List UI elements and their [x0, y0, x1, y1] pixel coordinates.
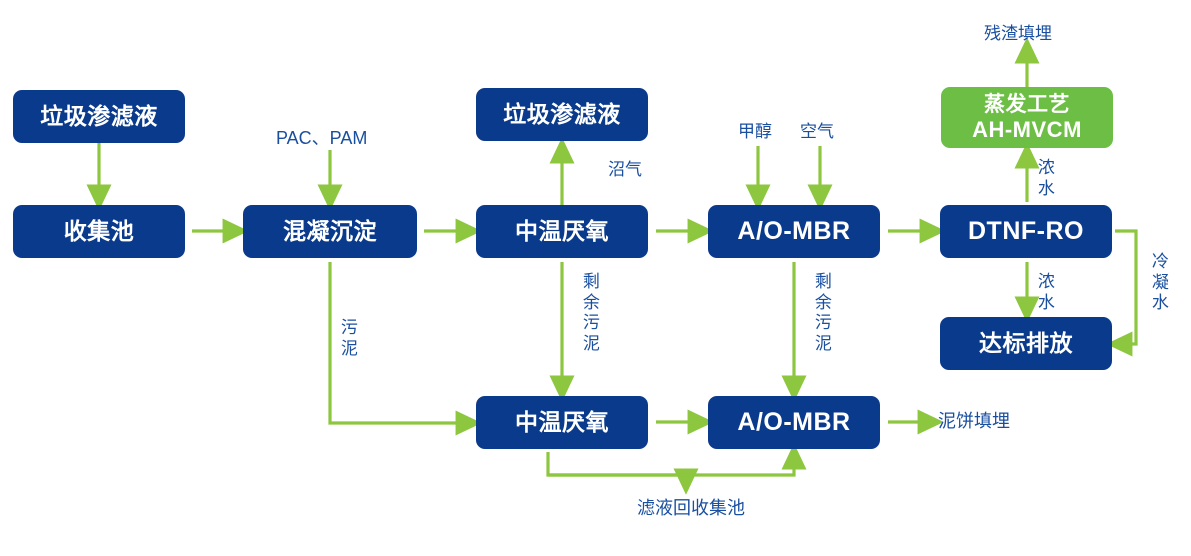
node-label: A/O-MBR [737, 217, 850, 246]
label-brine-to-discharge: 浓水 [1037, 272, 1056, 313]
node-label: A/O-MBR [737, 408, 850, 437]
node-label: 收集池 [64, 218, 135, 244]
label-excess-sludge-1: 剩余污泥 [582, 272, 601, 355]
node-ao-mbr-mid[interactable]: A/O-MBR [708, 205, 880, 258]
node-label: 中温厌氧 [515, 409, 609, 435]
node-leachate-inlet[interactable]: 垃圾渗滤液 [13, 90, 185, 143]
node-label: 混凝沉淀 [283, 218, 377, 244]
label-sludge: 污泥 [340, 318, 359, 359]
label-mud-cake-landfill: 泥饼填埋 [938, 411, 1010, 432]
node-collection-pool[interactable]: 收集池 [13, 205, 185, 258]
node-leachate-top[interactable]: 垃圾渗滤液 [476, 88, 648, 141]
node-label: 垃圾渗滤液 [40, 103, 158, 129]
label-brine-to-evaporation: 浓水 [1037, 158, 1056, 199]
node-dtnf-ro[interactable]: DTNF-RO [940, 205, 1112, 258]
node-label: 中温厌氧 [515, 218, 609, 244]
arrow-filtrate-down [548, 452, 686, 482]
arrow-condensate-return [1115, 231, 1136, 344]
label-air: 空气 [800, 122, 834, 142]
label-excess-sludge-2: 剩余污泥 [814, 272, 833, 355]
label-condensate: 冷凝水 [1151, 252, 1170, 314]
node-ao-mbr-bottom[interactable]: A/O-MBR [708, 396, 880, 449]
label-pac-pam: PAC、PAM [276, 128, 367, 149]
label-filtrate-recovery-pool: 滤液回收集池 [637, 498, 745, 519]
node-mesophilic-anaerobic-bottom[interactable]: 中温厌氧 [476, 396, 648, 449]
label-biogas: 沼气 [608, 160, 642, 180]
node-compliant-discharge[interactable]: 达标排放 [940, 317, 1112, 370]
node-label: 达标排放 [979, 330, 1073, 356]
node-mesophilic-anaerobic-mid[interactable]: 中温厌氧 [476, 205, 648, 258]
node-label-line2: AH-MVCM [972, 117, 1082, 143]
flowchart-canvas: 垃圾渗滤液 收集池 混凝沉淀 垃圾渗滤液 中温厌氧 A/O-MBR DTNF-R… [0, 0, 1191, 556]
label-methanol: 甲醇 [738, 122, 772, 142]
node-label: DTNF-RO [968, 217, 1084, 246]
label-residue-landfill: 残渣填埋 [984, 24, 1052, 44]
arrow-filtrate-up-to-aombr [548, 456, 794, 475]
node-evaporation-ah-mvcm[interactable]: 蒸发工艺 AH-MVCM [941, 87, 1113, 148]
node-coagulation-sedimentation[interactable]: 混凝沉淀 [243, 205, 417, 258]
node-label-line1: 蒸发工艺 [984, 92, 1070, 117]
node-label: 垃圾渗滤液 [503, 101, 621, 127]
